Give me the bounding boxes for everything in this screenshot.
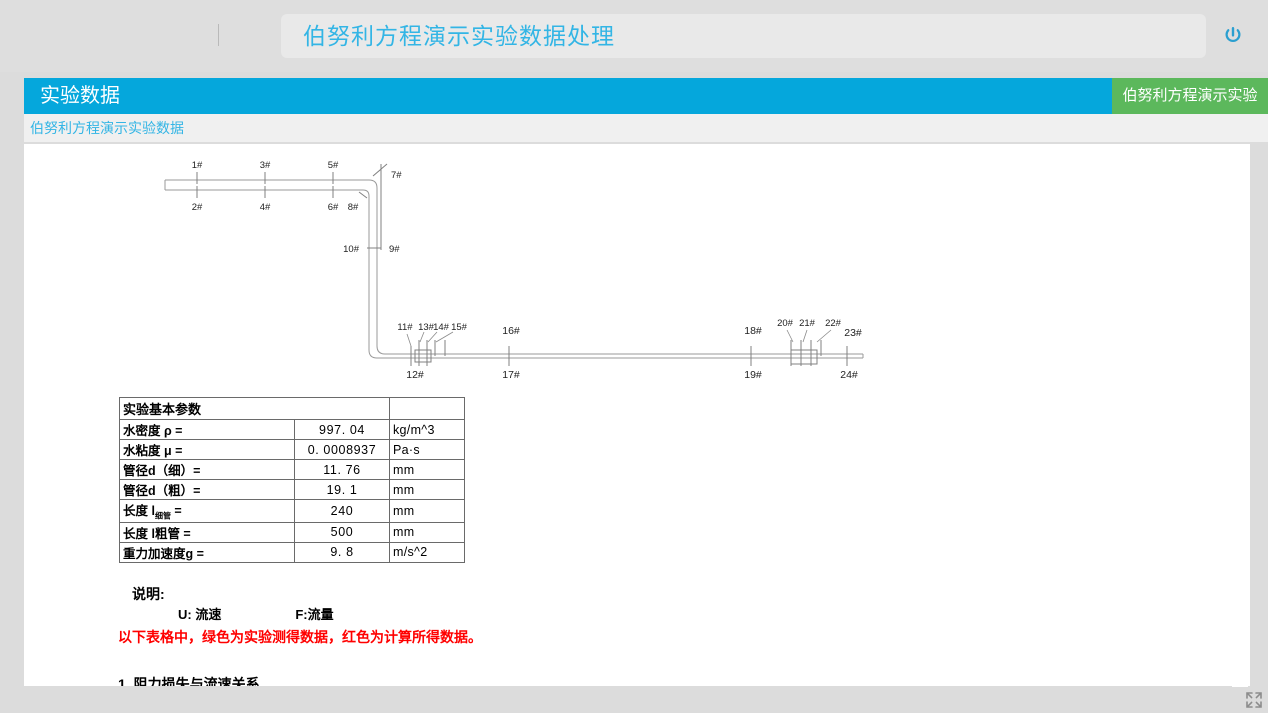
power-icon[interactable] [1222,25,1244,47]
table-row: 管径d（细）= 11. 76 mm [120,460,465,480]
param-table-title-unit-cell [390,398,465,420]
param-label: 管径d（细）= [120,460,295,480]
definition-u: U: 流速 [178,607,221,622]
svg-text:11#: 11# [397,322,413,333]
notes-heading: 说明: [132,584,482,604]
experiment-badge[interactable]: 伯努利方程演示实验 [1112,78,1268,114]
content-panel: 1# 3# 5# 7# 2# 4# 6# 8# 10# 9# 11# 13# 1… [24,144,1250,686]
param-label: 管径d（粗）= [120,480,295,500]
table-row: 长度 l粗管 = 500 mm [120,522,465,542]
svg-text:3#: 3# [260,160,271,171]
table-row: 水密度 ρ = 997. 04 kg/m^3 [120,420,465,440]
svg-text:24#: 24# [840,369,858,381]
table-header-row: 实验基本参数 [120,398,465,420]
title-plate: 伯努利方程演示实验数据处理 [281,14,1206,58]
notes-definitions: U: 流速F:流量 [132,604,482,626]
svg-text:21#: 21# [799,318,816,329]
param-label: 水密度 ρ = [120,420,295,440]
param-value[interactable]: 500 [295,522,390,542]
svg-text:14#: 14# [433,322,450,333]
table-row: 长度 l细管 = 240 mm [120,500,465,523]
svg-text:1#: 1# [192,160,203,171]
app-title: 伯努利方程演示实验数据处理 [303,21,615,51]
param-value[interactable]: 9. 8 [295,542,390,562]
definition-f: F:流量 [295,607,333,622]
notes-color-legend: 以下表格中，绿色为实验测得数据，红色为计算所得数据。 [118,626,482,648]
svg-text:5#: 5# [328,160,339,171]
svg-text:16#: 16# [502,325,520,337]
svg-text:15#: 15# [451,322,468,333]
svg-text:2#: 2# [192,202,203,213]
svg-text:10#: 10# [343,244,360,255]
param-unit: mm [390,460,465,480]
table-row: 重力加速度g = 9. 8 m/s^2 [120,542,465,562]
breadcrumb-link[interactable]: 伯努利方程演示实验数据 [30,117,184,139]
svg-text:19#: 19# [744,369,762,381]
svg-text:20#: 20# [777,318,794,329]
svg-text:23#: 23# [844,327,862,339]
param-label: 长度 l粗管 = [120,522,295,542]
param-unit: Pa·s [390,440,465,460]
svg-text:17#: 17# [502,369,520,381]
svg-text:12#: 12# [406,369,424,381]
page-header-bar: 实验数据 伯努利方程演示实验 [24,78,1268,114]
param-label: 长度 l细管 = [120,500,295,523]
param-value[interactable]: 997. 04 [295,420,390,440]
corner-fold [1232,673,1248,687]
param-value[interactable]: 19. 1 [295,480,390,500]
svg-text:22#: 22# [825,318,842,329]
param-unit: mm [390,500,465,523]
svg-text:18#: 18# [744,325,762,337]
param-unit: kg/m^3 [390,420,465,440]
param-unit: m/s^2 [390,542,465,562]
param-label: 水粘度 μ = [120,440,295,460]
page-title: 实验数据 [40,82,120,110]
toolbar-divider [218,24,219,46]
param-value[interactable]: 11. 76 [295,460,390,480]
param-value[interactable]: 240 [295,500,390,523]
svg-text:9#: 9# [389,244,400,255]
fullscreen-expand-icon[interactable] [1245,691,1263,709]
section-heading-1: 1. 阻力损失与流速关系 [118,674,482,686]
experiment-parameters-table: 实验基本参数 水密度 ρ = 997. 04 kg/m^3 水粘度 μ = 0.… [119,397,465,563]
param-label: 重力加速度g = [120,542,295,562]
svg-text:7#: 7# [391,170,402,181]
table-row: 水粘度 μ = 0. 0008937 Pa·s [120,440,465,460]
breadcrumb: 伯努利方程演示实验数据 [24,114,1268,142]
svg-text:8#: 8# [348,202,359,213]
notes-section: 说明: U: 流速F:流量 以下表格中，绿色为实验测得数据，红色为计算所得数据。… [132,584,482,686]
table-row: 管径d（粗）= 19. 1 mm [120,480,465,500]
svg-text:6#: 6# [328,202,339,213]
svg-text:4#: 4# [260,202,271,213]
param-table-title: 实验基本参数 [120,398,390,420]
param-value[interactable]: 0. 0008937 [295,440,390,460]
top-bar: 伯努利方程演示实验数据处理 [0,0,1268,72]
param-unit: mm [390,480,465,500]
bernoulli-pipe-schematic: 1# 3# 5# 7# 2# 4# 6# 8# 10# 9# 11# 13# 1… [119,154,909,394]
param-unit: mm [390,522,465,542]
